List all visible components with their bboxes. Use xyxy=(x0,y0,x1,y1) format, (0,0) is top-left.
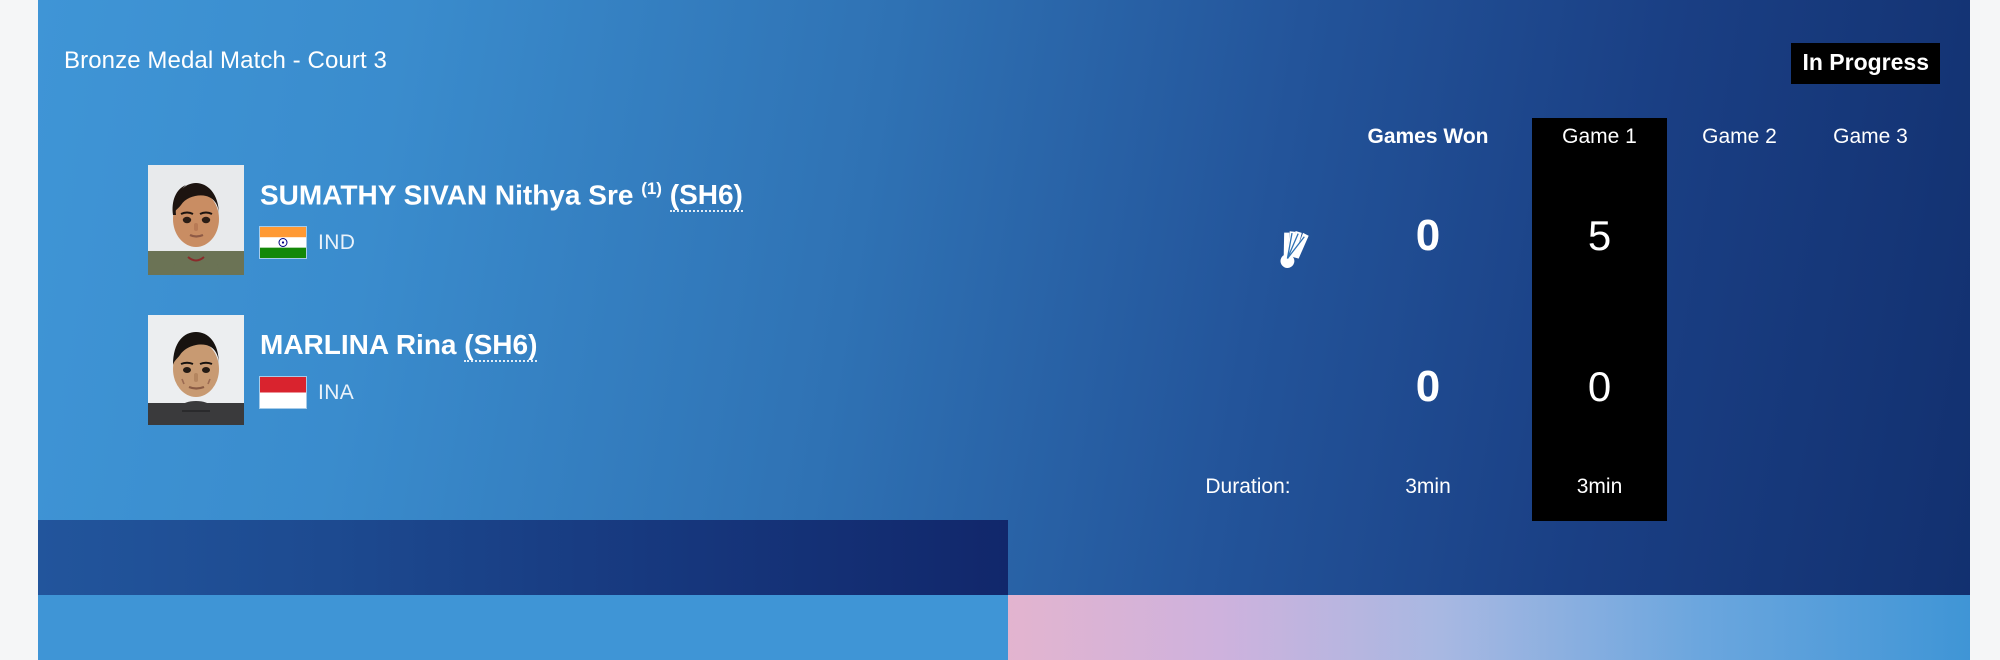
game3-score-player-1 xyxy=(1803,207,1938,265)
player-name-2: MARLINA Rina (SH6) xyxy=(260,329,537,361)
duration-label: Duration: xyxy=(1158,475,1338,499)
match-title: Bronze Medal Match - Court 3 xyxy=(64,47,387,75)
games-won-player-1: 0 xyxy=(1338,207,1518,265)
indonesia-flag xyxy=(260,377,306,408)
game3-score-player-2 xyxy=(1803,358,1938,416)
player-class-2: (SH6) xyxy=(464,329,537,362)
games-won-player-2: 0 xyxy=(1338,358,1518,416)
game1-score-player-1: 5 xyxy=(1532,207,1667,265)
decorative-navy-bar xyxy=(38,520,1008,595)
player-nationality-1: IND xyxy=(260,227,355,258)
player-seed-1: (1) xyxy=(641,179,662,198)
duration-game-3 xyxy=(1803,475,1938,505)
player-country-code-2: INA xyxy=(318,381,354,405)
game1-score-player-2: 0 xyxy=(1532,358,1667,416)
decorative-gradient-strip xyxy=(1008,595,1970,660)
india-flag xyxy=(260,227,306,258)
match-card[interactable]: Bronze Medal Match - Court 3 In Progress… xyxy=(38,0,1970,660)
shuttlecock-icon xyxy=(1270,222,1322,274)
column-header-game-1: Game 1 xyxy=(1532,125,1667,155)
game1-highlight-column xyxy=(1532,118,1667,521)
game2-score-player-1 xyxy=(1672,207,1807,265)
player-photo-2 xyxy=(148,315,244,425)
status-badge: In Progress xyxy=(1791,43,1940,84)
player-nationality-2: INA xyxy=(260,377,354,408)
player-name-1: SUMATHY SIVAN Nithya Sre (1) (SH6) xyxy=(260,179,743,211)
player-country-code-1: IND xyxy=(318,231,355,255)
game2-score-player-2 xyxy=(1672,358,1807,416)
scoreboard-root: Bronze Medal Match - Court 3 In Progress… xyxy=(0,0,2000,660)
player-photo-1 xyxy=(148,165,244,275)
player-name-text-1: SUMATHY SIVAN Nithya Sre xyxy=(260,179,633,210)
player-name-text-2: MARLINA Rina xyxy=(260,329,457,360)
column-header-game-3: Game 3 xyxy=(1803,125,1938,155)
duration-game-2 xyxy=(1672,475,1807,505)
column-header-game-2: Game 2 xyxy=(1672,125,1807,155)
duration-total: 3min xyxy=(1338,475,1518,505)
duration-game-1: 3min xyxy=(1532,475,1667,505)
player-class-1: (SH6) xyxy=(670,179,743,212)
column-header-games-won: Games Won xyxy=(1338,125,1518,155)
decorative-lower-left-bar xyxy=(38,595,1008,660)
